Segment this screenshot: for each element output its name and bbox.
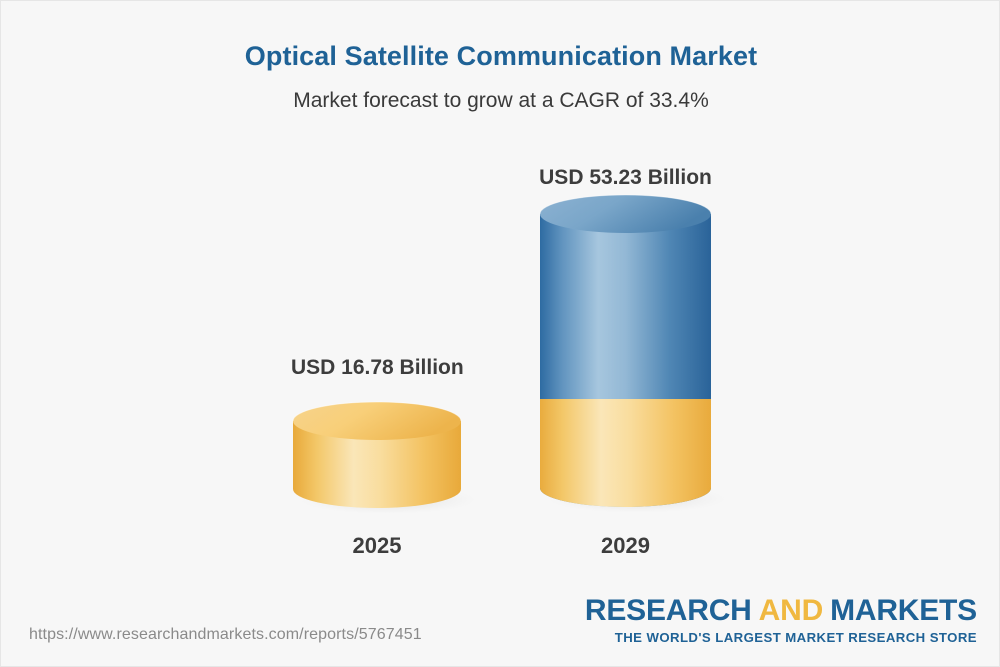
brand-word-markets: MARKETS: [830, 594, 977, 627]
cylinder-2025: [291, 397, 463, 513]
page-title: Optical Satellite Communication Market: [1, 41, 1000, 72]
brand-tagline: THE WORLD'S LARGEST MARKET RESEARCH STOR…: [585, 631, 977, 644]
bar-group-2025: USD 16.78 Billion: [291, 141, 463, 571]
brand-word-research: RESEARCH: [585, 594, 752, 627]
chart-plot-area: USD 16.78 Billion: [1, 141, 1000, 571]
chart-subtitle: Market forecast to grow at a CAGR of 33.…: [1, 89, 1000, 113]
source-url[interactable]: https://www.researchandmarkets.com/repor…: [29, 626, 422, 644]
cylinder-2025-shape: [291, 397, 463, 513]
bar-category-label-2025: 2025: [291, 533, 463, 559]
cylinder-2029: [538, 188, 713, 513]
bar-value-label-2029: USD 53.23 Billion: [538, 166, 713, 190]
bar-group-2029: USD 53.23 Billion: [538, 141, 713, 571]
brand-wordmark: RESEARCHANDMARKETS: [585, 596, 977, 626]
bar-category-label-2029: 2029: [538, 533, 713, 559]
bar-value-label-2025: USD 16.78 Billion: [291, 356, 463, 380]
cylinder-2029-shape: [538, 188, 713, 513]
brand-word-and: AND: [759, 594, 823, 627]
infographic-canvas: Optical Satellite Communication Market M…: [0, 0, 1000, 667]
brand-logo: RESEARCHANDMARKETS THE WORLD'S LARGEST M…: [585, 596, 977, 644]
